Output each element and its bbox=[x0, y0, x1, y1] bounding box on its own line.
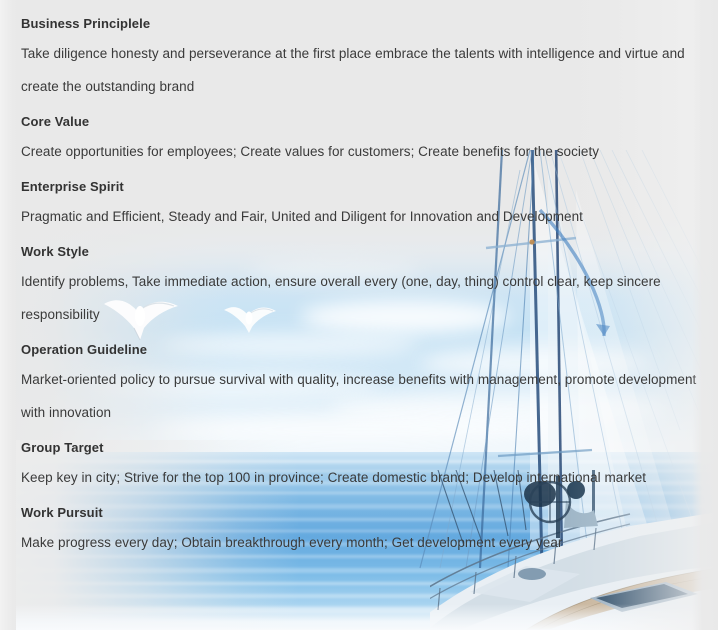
section-enterprise-spirit: Enterprise Spirit Pragmatic and Efficien… bbox=[21, 174, 700, 233]
section-heading: Work Pursuit bbox=[21, 500, 700, 526]
section-work-style: Work Style Identify problems, Take immed… bbox=[21, 239, 700, 331]
section-heading: Core Value bbox=[21, 109, 700, 135]
section-body: Market-oriented policy to pursue surviva… bbox=[21, 363, 700, 429]
corporate-culture-page: Business Principlele Take diligence hone… bbox=[0, 0, 718, 630]
section-business-principle: Business Principlele Take diligence hone… bbox=[21, 11, 700, 103]
section-heading: Work Style bbox=[21, 239, 700, 265]
section-heading: Operation Guideline bbox=[21, 337, 700, 363]
section-heading: Group Target bbox=[21, 435, 700, 461]
section-body: Keep key in city; Strive for the top 100… bbox=[21, 461, 700, 494]
section-body: Take diligence honesty and perseverance … bbox=[21, 37, 700, 103]
section-heading: Business Principlele bbox=[21, 11, 700, 37]
section-operation-guideline: Operation Guideline Market-oriented poli… bbox=[21, 337, 700, 429]
section-body: Create opportunities for employees; Crea… bbox=[21, 135, 700, 168]
section-core-value: Core Value Create opportunities for empl… bbox=[21, 109, 700, 168]
section-group-target: Group Target Keep key in city; Strive fo… bbox=[21, 435, 700, 494]
section-heading: Enterprise Spirit bbox=[21, 174, 700, 200]
section-body: Make progress every day; Obtain breakthr… bbox=[21, 526, 700, 559]
culture-text-content: Business Principlele Take diligence hone… bbox=[0, 0, 718, 565]
section-work-pursuit: Work Pursuit Make progress every day; Ob… bbox=[21, 500, 700, 559]
section-body: Pragmatic and Efficient, Steady and Fair… bbox=[21, 200, 700, 233]
section-body: Identify problems, Take immediate action… bbox=[21, 265, 700, 331]
